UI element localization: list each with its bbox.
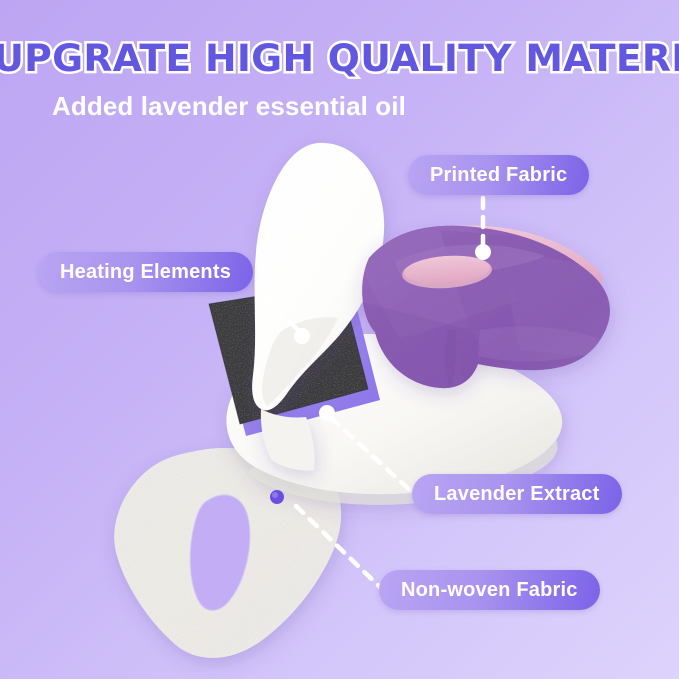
callout-lavender-extract[interactable]: Lavender Extract bbox=[412, 474, 622, 514]
header: UPGRATE HIGH QUALITY MATERIAL Added lave… bbox=[0, 40, 679, 120]
page-title: UPGRATE HIGH QUALITY MATERIAL bbox=[0, 40, 679, 79]
callout-heating-elements[interactable]: Heating Elements bbox=[38, 252, 253, 292]
page-subtitle: Added lavender essential oil bbox=[0, 92, 679, 121]
callout-printed-fabric[interactable]: Printed Fabric bbox=[408, 155, 589, 195]
lavender-extract-dot bbox=[270, 490, 284, 504]
product-infographic: UPGRATE HIGH QUALITY MATERIAL Added lave… bbox=[0, 0, 679, 679]
callout-nonwoven-fabric[interactable]: Non-woven Fabric bbox=[379, 570, 600, 610]
